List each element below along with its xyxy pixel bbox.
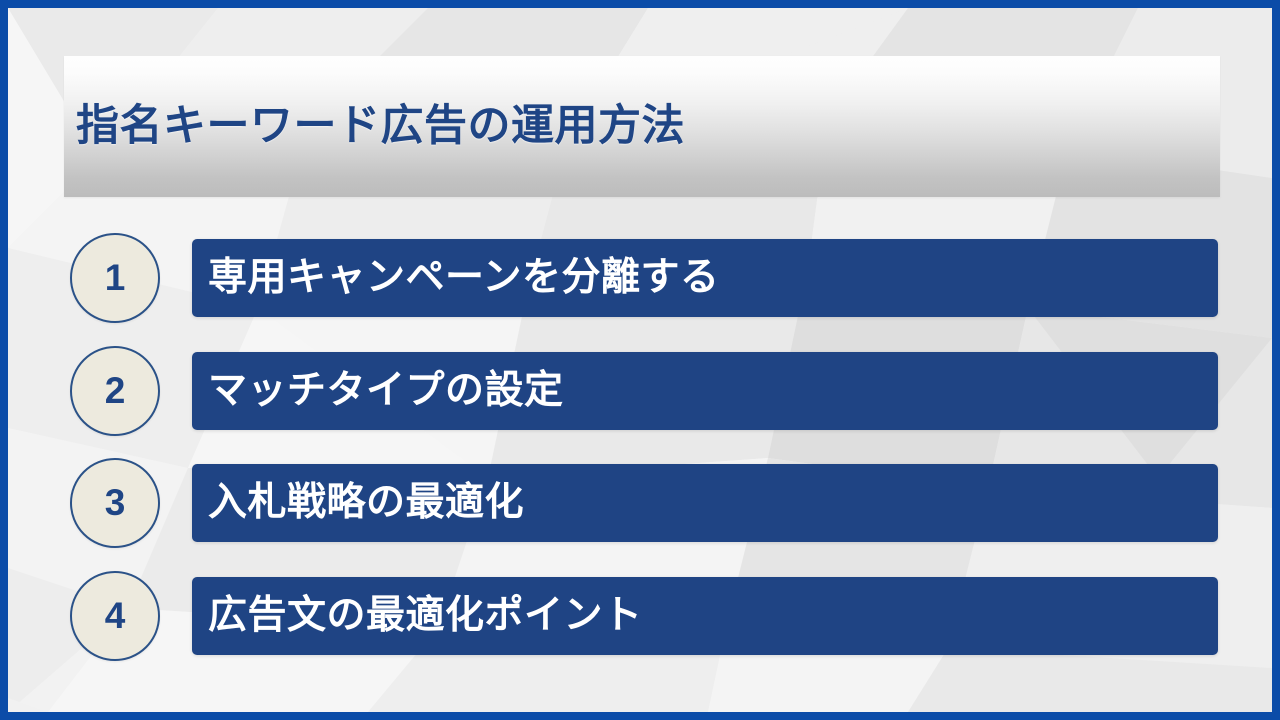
step-bar[interactable]: 広告文の最適化ポイント xyxy=(192,577,1218,655)
step-number-badge: 1 xyxy=(70,233,160,323)
list-item: 1 専用キャンペーンを分離する xyxy=(8,233,1272,323)
step-bar[interactable]: マッチタイプの設定 xyxy=(192,352,1218,430)
step-number: 4 xyxy=(105,595,126,637)
step-label: 入札戦略の最適化 xyxy=(192,482,524,525)
list-item: 4 広告文の最適化ポイント xyxy=(8,571,1272,661)
step-number-badge: 4 xyxy=(70,571,160,661)
step-number: 3 xyxy=(105,482,126,524)
step-bar[interactable]: 入札戦略の最適化 xyxy=(192,464,1218,542)
list-item: 2 マッチタイプの設定 xyxy=(8,346,1272,436)
step-bar[interactable]: 専用キャンペーンを分離する xyxy=(192,239,1218,317)
slide-canvas: 指名キーワード広告の運用方法 1 専用キャンペーンを分離する 2 マッチタイプの… xyxy=(8,8,1272,712)
steps-list: 1 専用キャンペーンを分離する 2 マッチタイプの設定 3 xyxy=(8,8,1272,712)
step-label: 専用キャンペーンを分離する xyxy=(192,257,720,300)
step-label: マッチタイプの設定 xyxy=(192,370,564,413)
step-number-badge: 3 xyxy=(70,458,160,548)
step-label: 広告文の最適化ポイント xyxy=(192,595,643,638)
list-item: 3 入札戦略の最適化 xyxy=(8,458,1272,548)
slide: 指名キーワード広告の運用方法 1 専用キャンペーンを分離する 2 マッチタイプの… xyxy=(0,0,1280,720)
step-number: 2 xyxy=(105,370,126,412)
step-number: 1 xyxy=(105,257,126,299)
step-number-badge: 2 xyxy=(70,346,160,436)
